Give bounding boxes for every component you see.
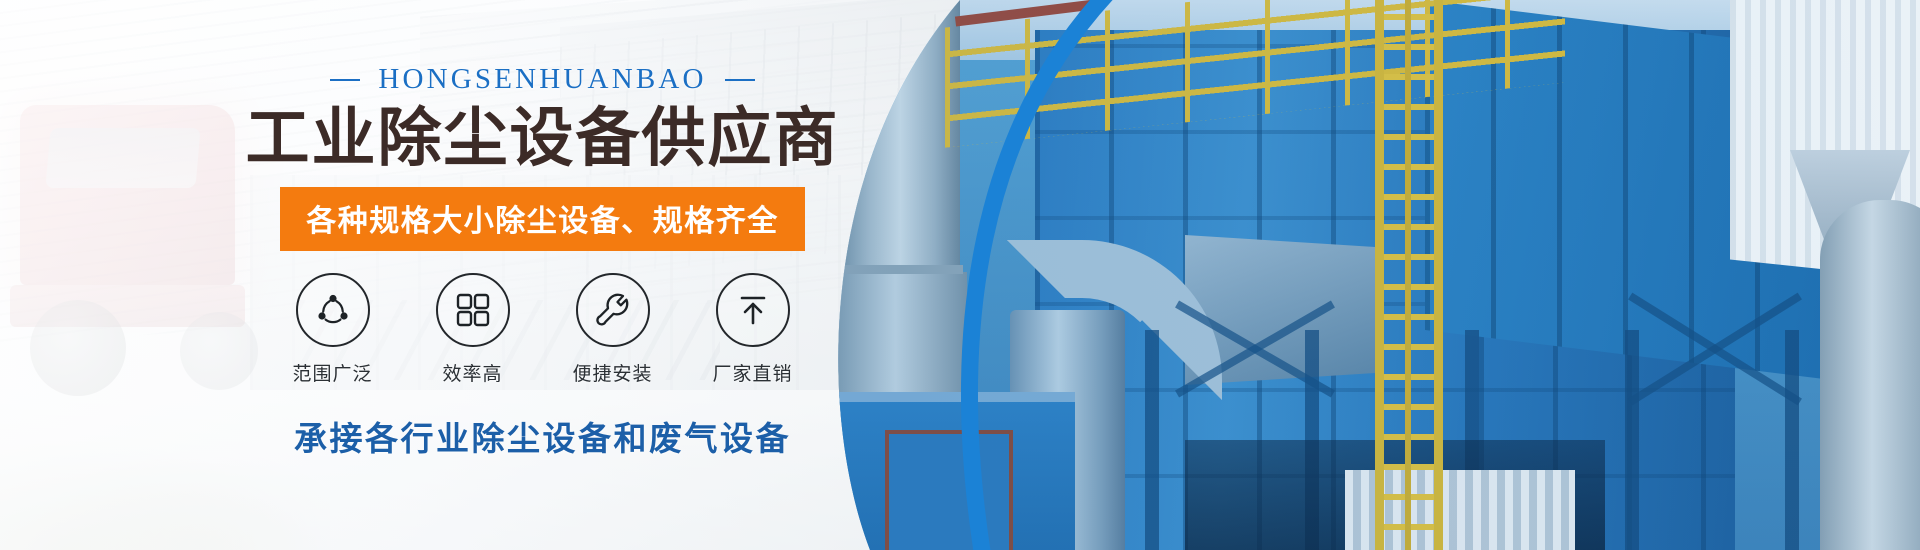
feature-label: 便捷安装 [573,359,653,386]
page-title: 工业除尘设备供应商 [246,104,840,173]
feature-label: 范围广泛 [293,359,373,386]
em-dash-left-icon [330,79,360,81]
eyebrow-line: HONGSENHUANBAO [330,63,754,96]
upload-arrow-icon [716,273,790,347]
feature-list: 范围广泛 效率高 [293,273,793,386]
feature-item-factory-direct[interactable]: 厂家直销 [713,273,793,386]
feature-item-efficiency[interactable]: 效率高 [433,273,513,386]
feature-label: 厂家直销 [713,359,793,386]
feature-item-range[interactable]: 范围广泛 [293,273,373,386]
tagline-badge: 各种规格大小除尘设备、规格齐全 [280,187,805,251]
footer-tagline: 承接各行业除尘设备和废气设备 [294,412,791,460]
eyebrow-text: HONGSENHUANBAO [378,63,706,96]
feature-item-install[interactable]: 便捷安装 [573,273,653,386]
em-dash-right-icon [725,79,755,81]
grid-four-squares-icon [436,273,510,347]
hero-banner: HONGSENHUANBAO 工业除尘设备供应商 各种规格大小除尘设备、规格齐全 [0,0,1920,550]
feature-label: 效率高 [442,359,502,386]
hero-content: HONGSENHUANBAO 工业除尘设备供应商 各种规格大小除尘设备、规格齐全 [0,0,1085,550]
share-network-icon [296,273,370,347]
wrench-tool-icon [576,273,650,347]
